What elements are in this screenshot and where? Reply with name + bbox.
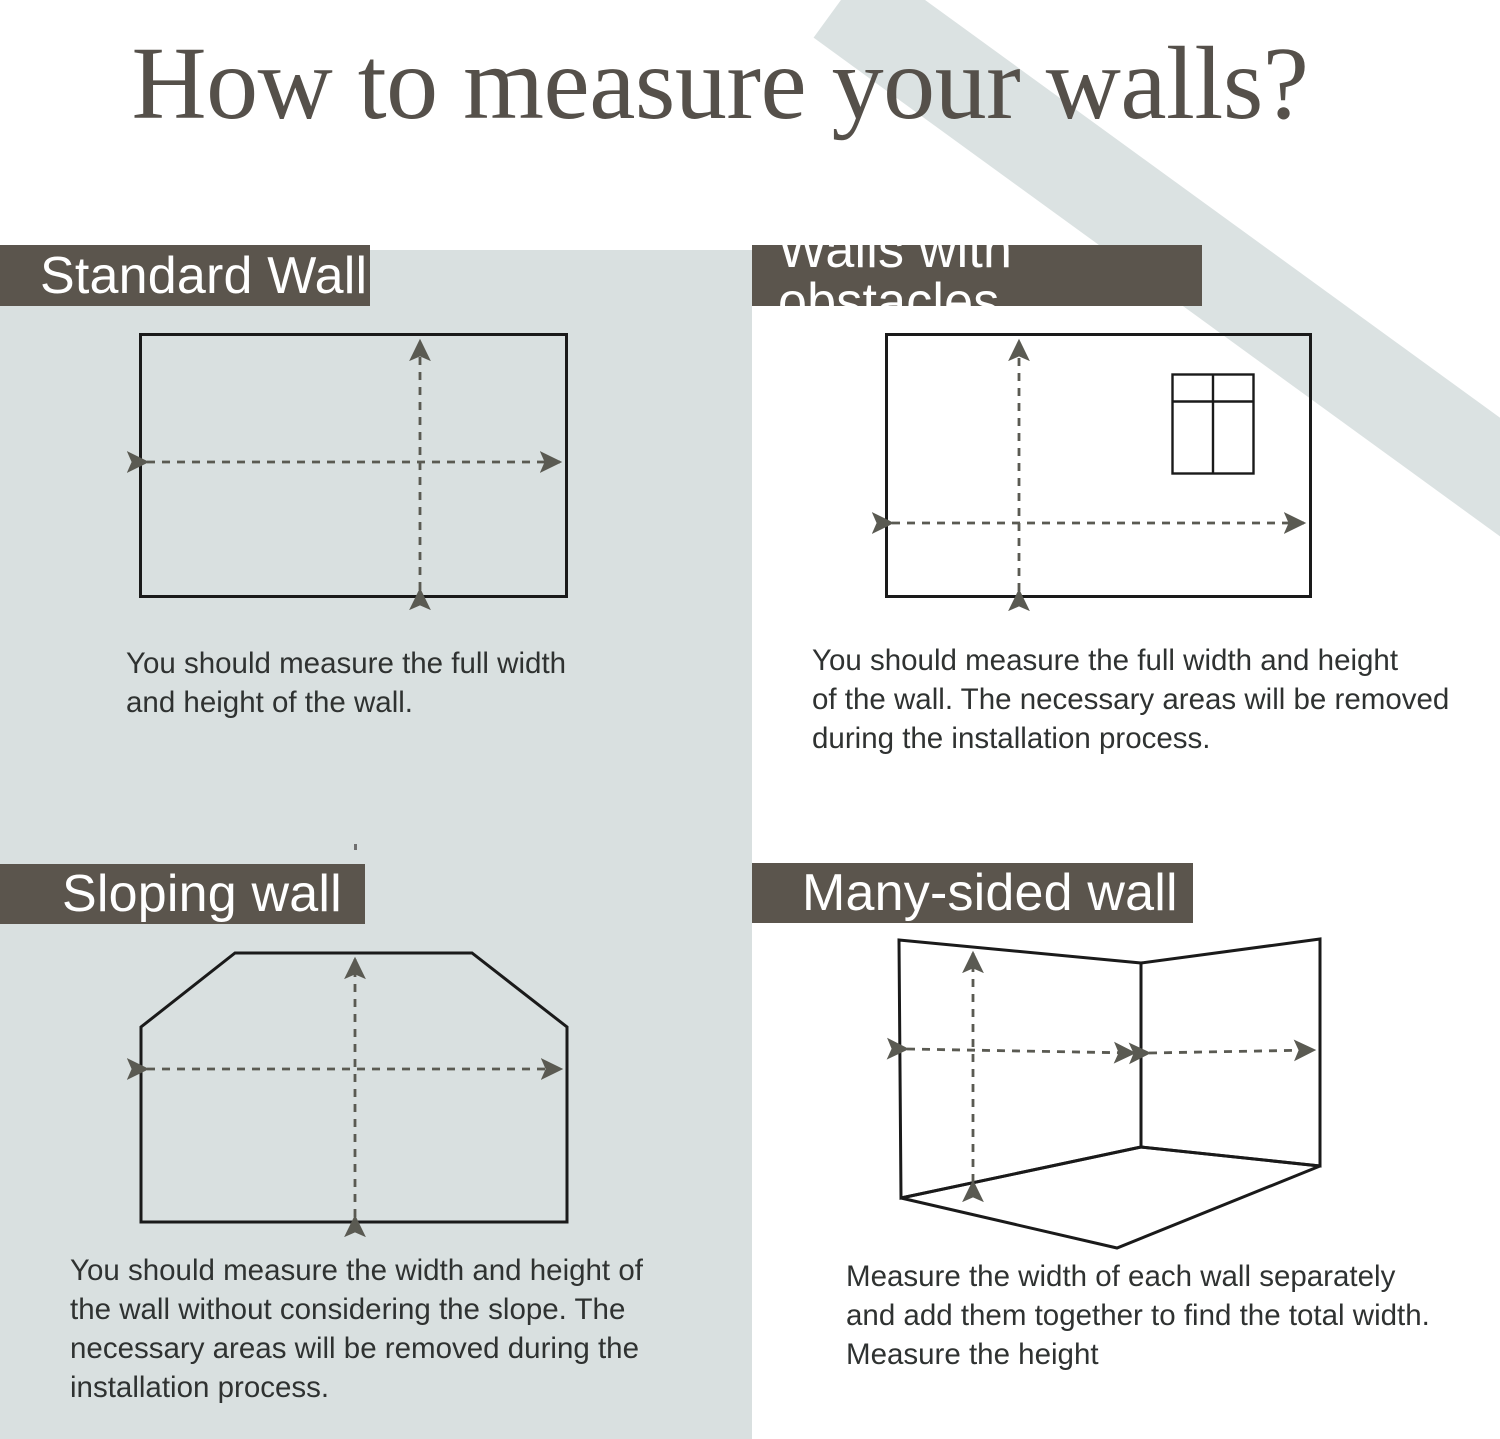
corner-room-outline [899,939,1320,1248]
diagram-many-sided-wall [0,0,1500,1439]
infographic-canvas: How to measure your walls? Standard Wall… [0,0,1500,1439]
floor-face [901,1147,1320,1248]
right-wall-width-arrow [1149,1050,1314,1053]
caption-many-sided-wall: Measure the width of each wall separatel… [846,1258,1476,1375]
left-wall-face [899,940,1141,1198]
left-wall-width-arrow [907,1049,1134,1053]
